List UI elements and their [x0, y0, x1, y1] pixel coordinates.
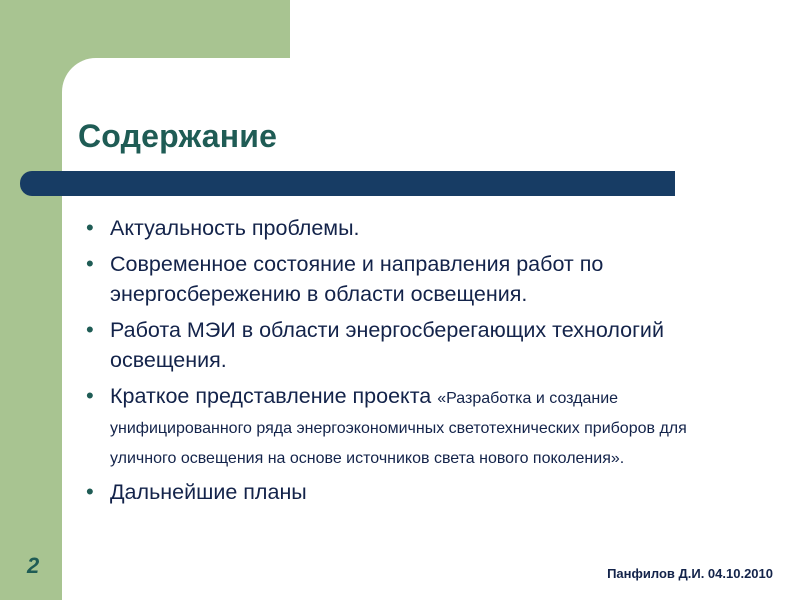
list-item: • Работа МЭИ в области энергосберегающих…: [86, 315, 734, 375]
list-item-text: Актуальность проблемы.: [110, 213, 734, 243]
slide-footer: Панфилов Д.И. 04.10.2010: [607, 566, 773, 581]
list-item-main-text: Дальнейшие планы: [110, 480, 307, 504]
page-number: 2: [27, 553, 39, 579]
list-item: • Актуальность проблемы.: [86, 213, 734, 243]
list-item-main-text: Работа МЭИ в области энергосберегающих т…: [110, 318, 664, 372]
list-item-main-text: Краткое представление проекта: [110, 384, 437, 408]
bullet-list: • Актуальность проблемы. • Современное с…: [86, 213, 734, 513]
list-item-text: Дальнейшие планы: [110, 477, 734, 507]
list-item-main-text: Современное состояние и направления рабо…: [110, 252, 603, 306]
list-item-text: Работа МЭИ в области энергосберегающих т…: [110, 315, 734, 375]
bullet-dot-icon: •: [86, 213, 110, 243]
slide-title: Содержание: [78, 118, 277, 155]
list-item: • Современное состояние и направления ра…: [86, 249, 734, 309]
title-underline-bar: [20, 171, 675, 196]
list-item-main-text: Актуальность проблемы.: [110, 216, 360, 240]
list-item-text: Краткое представление проекта «Разработк…: [110, 381, 734, 471]
bullet-dot-icon: •: [86, 249, 110, 279]
list-item: • Краткое представление проекта «Разрабо…: [86, 381, 734, 471]
bullet-dot-icon: •: [86, 315, 110, 345]
presentation-slide: Содержание • Актуальность проблемы. • Со…: [0, 0, 800, 600]
bullet-dot-icon: •: [86, 381, 110, 411]
list-item-text: Современное состояние и направления рабо…: [110, 249, 734, 309]
list-item: • Дальнейшие планы: [86, 477, 734, 507]
bullet-dot-icon: •: [86, 477, 110, 507]
